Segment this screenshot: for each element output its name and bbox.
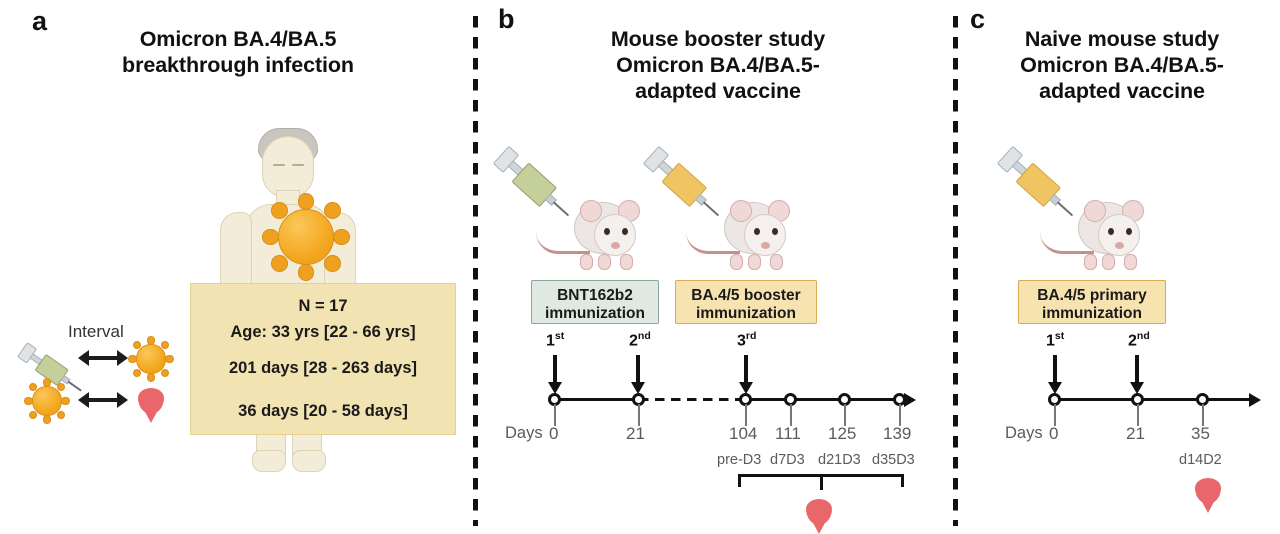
- panel-b-title-line-2: Omicron BA.4/BA.5-: [523, 52, 913, 78]
- day-label-104-b: 104: [729, 424, 757, 444]
- virus-spike: [43, 378, 52, 387]
- dose-arrow-2-c: [1135, 355, 1139, 383]
- day-label-21-c: 21: [1126, 424, 1145, 444]
- dose-arrow-1-b: [553, 355, 557, 383]
- box-bnt162b2-immunization: BNT162b2 immunization: [531, 280, 659, 324]
- virus-spike: [324, 255, 341, 272]
- mouse-nose: [1115, 242, 1124, 249]
- panel-b-title-line-3: adapted vaccine: [523, 78, 913, 104]
- days-axis-label-c: Days: [1005, 424, 1043, 443]
- mouse-nose: [761, 242, 770, 249]
- virus-particle-icon-chest: [262, 193, 350, 281]
- panel-a-title-line-1: Omicron BA.4/BA.5: [48, 26, 428, 52]
- virus-spike: [262, 229, 279, 246]
- ordinal-3-suffix: rd: [746, 330, 757, 342]
- day-label-0-b: 0: [549, 424, 558, 444]
- dose-arrow-1-c: [1053, 355, 1057, 383]
- dose-arrow-2-b: [636, 355, 640, 383]
- human-eye-right: [292, 164, 304, 166]
- virus-spike: [133, 369, 142, 378]
- box-ba45-primary-line-1: BA.4/5 primary: [1019, 287, 1165, 305]
- human-foot-left: [252, 450, 286, 472]
- blood-drop-icon: [1195, 478, 1221, 504]
- panel-b: b Mouse booster study Omicron BA.4/BA.5-…: [468, 0, 958, 530]
- mouse-paw-3: [620, 254, 633, 270]
- mouse-paw-2: [748, 254, 761, 270]
- panel-c-title: Naive mouse study Omicron BA.4/BA.5- ada…: [972, 26, 1272, 105]
- day-label-21-b: 21: [626, 424, 645, 444]
- timeline-tick-d125-b: [844, 404, 846, 426]
- virus-spike: [271, 255, 288, 272]
- box-bnt162b2-line-1: BNT162b2: [532, 287, 658, 305]
- sub-label-d7d3: d7D3: [770, 452, 805, 468]
- virus-spike: [57, 383, 66, 392]
- mouse-head: [594, 214, 636, 256]
- virus-spike: [271, 202, 288, 219]
- cohort-info-box: N = 17 Age: 33 yrs [22 - 66 yrs] 201 day…: [190, 283, 456, 435]
- panel-c: c Naive mouse study Omicron BA.4/BA.5- a…: [958, 0, 1280, 530]
- interval-arrow-bottom: [88, 398, 118, 402]
- ordinal-1st-c: 1st: [1046, 330, 1064, 350]
- info-line-sampling: 36 days [20 - 58 days]: [191, 403, 455, 420]
- day-label-139-b: 139: [883, 424, 911, 444]
- box-ba45-primary-immunization: BA.4/5 primary immunization: [1018, 280, 1166, 324]
- box-bnt162b2-line-2: immunization: [532, 305, 658, 323]
- timeline-axis-seg-1: [555, 398, 639, 401]
- panel-c-title-line-3: adapted vaccine: [972, 78, 1272, 104]
- mouse-eye-right: [622, 228, 628, 235]
- mouse-ear-left: [1084, 200, 1106, 222]
- mouse-paw-1: [730, 254, 743, 270]
- virus-spike: [128, 355, 137, 364]
- timeline-axis-arrowhead-c: [1249, 393, 1261, 407]
- mouse-eye-left: [1108, 228, 1114, 235]
- virus-particle-icon-bottom: [24, 378, 70, 424]
- box-ba45-booster-line-1: BA.4/5 booster: [676, 287, 816, 305]
- blood-drop-icon: [138, 388, 164, 414]
- ordinal-1-suffix: st: [555, 330, 564, 342]
- box-ba45-booster-immunization: BA.4/5 booster immunization: [675, 280, 817, 324]
- mouse-paw-2: [598, 254, 611, 270]
- mouse-ear-left: [730, 200, 752, 222]
- mouse-head: [1098, 214, 1140, 256]
- timeline-tick-d21-b: [638, 404, 640, 426]
- day-label-35-c: 35: [1191, 424, 1210, 444]
- ordinal-2-suffix: nd: [638, 330, 651, 342]
- virus-spike: [29, 411, 38, 420]
- timeline-axis-c: [1055, 398, 1251, 401]
- ordinal-2nd-b: 2nd: [629, 330, 651, 350]
- interval-arrow-top: [88, 356, 118, 360]
- mouse-eye-left: [604, 228, 610, 235]
- virus-spike: [298, 264, 315, 281]
- box-ba45-primary-line-2: immunization: [1019, 305, 1165, 323]
- virus-spike: [61, 397, 70, 406]
- ordinal-2-suffix: nd: [1137, 330, 1150, 342]
- mouse-eye-right: [1126, 228, 1132, 235]
- ordinal-2-num: 2: [629, 332, 638, 349]
- virus-spike: [24, 397, 33, 406]
- panel-b-letter: b: [498, 6, 515, 33]
- human-eye-left: [273, 164, 285, 166]
- virus-spike: [161, 369, 170, 378]
- ordinal-1-suffix: st: [1055, 330, 1064, 342]
- panel-b-title: Mouse booster study Omicron BA.4/BA.5- a…: [523, 26, 913, 105]
- timeline-tick-d35-c: [1202, 404, 1204, 426]
- virus-particle-icon-top: [128, 336, 174, 382]
- mouse-paw-1: [1084, 254, 1097, 270]
- ordinal-1-num: 1: [546, 332, 555, 349]
- panel-a-title-line-2: breakthrough infection: [48, 52, 428, 78]
- virus-spike: [43, 415, 52, 424]
- virus-spike: [298, 193, 315, 210]
- virus-spike: [147, 336, 156, 345]
- sub-label-pre-d3: pre-D3: [717, 452, 761, 468]
- mouse-nose: [611, 242, 620, 249]
- blood-drop-icon: [806, 499, 832, 525]
- virus-spike: [324, 202, 341, 219]
- day-label-0-c: 0: [1049, 424, 1058, 444]
- info-line-interval: 201 days [28 - 263 days]: [191, 360, 455, 377]
- timeline-tick-d111-b: [790, 404, 792, 426]
- mouse-head: [744, 214, 786, 256]
- ordinal-1-num: 1: [1046, 332, 1055, 349]
- sub-label-d14d2: d14D2: [1179, 452, 1222, 468]
- virus-spike: [57, 411, 66, 420]
- ordinal-2nd-c: 2nd: [1128, 330, 1150, 350]
- ordinal-3rd-b: 3rd: [737, 330, 756, 350]
- human-foot-right: [292, 450, 326, 472]
- virus-spike: [147, 373, 156, 382]
- human-head: [262, 136, 314, 198]
- panel-a-letter: a: [32, 8, 47, 35]
- mouse-eye-left: [754, 228, 760, 235]
- ordinal-3-num: 3: [737, 332, 746, 349]
- sub-label-d35d3: d35D3: [872, 452, 915, 468]
- virus-spike: [161, 341, 170, 350]
- timeline-tick-d21-c: [1137, 404, 1139, 426]
- info-line-n: N = 17: [191, 298, 455, 315]
- panel-b-title-line-1: Mouse booster study: [523, 26, 913, 52]
- timeline-tick-d0-b: [554, 404, 556, 426]
- mouse-eye-right: [772, 228, 778, 235]
- mouse-paw-1: [580, 254, 593, 270]
- panel-a: a Omicron BA.4/BA.5 breakthrough infecti…: [0, 0, 468, 530]
- timeline-axis-dashed-gap: [639, 398, 746, 401]
- timeline-axis-seg-2: [746, 398, 906, 401]
- panel-a-title: Omicron BA.4/BA.5 breakthrough infection: [48, 26, 428, 78]
- virus-spike: [165, 355, 174, 364]
- box-ba45-booster-line-2: immunization: [676, 305, 816, 323]
- ordinal-1st-b: 1st: [546, 330, 564, 350]
- panel-c-title-line-2: Omicron BA.4/BA.5-: [972, 52, 1272, 78]
- info-line-age: Age: 33 yrs [22 - 66 yrs]: [191, 324, 455, 341]
- interval-label: Interval: [68, 322, 124, 342]
- timeline-tick-d139-b: [899, 404, 901, 426]
- timeline-tick-d0-c: [1054, 404, 1056, 426]
- mouse-paw-3: [770, 254, 783, 270]
- mouse-ear-left: [580, 200, 602, 222]
- mouse-paw-2: [1102, 254, 1115, 270]
- days-axis-label-b: Days: [505, 424, 543, 443]
- day-label-125-b: 125: [828, 424, 856, 444]
- dose-arrow-3-b: [744, 355, 748, 383]
- timeline-tick-d104-b: [745, 404, 747, 426]
- panel-c-title-line-1: Naive mouse study: [972, 26, 1272, 52]
- day-label-111-b: 111: [775, 424, 801, 444]
- sub-label-d21d3: d21D3: [818, 452, 861, 468]
- mouse-paw-3: [1124, 254, 1137, 270]
- ordinal-2-num: 2: [1128, 332, 1137, 349]
- virus-spike: [333, 229, 350, 246]
